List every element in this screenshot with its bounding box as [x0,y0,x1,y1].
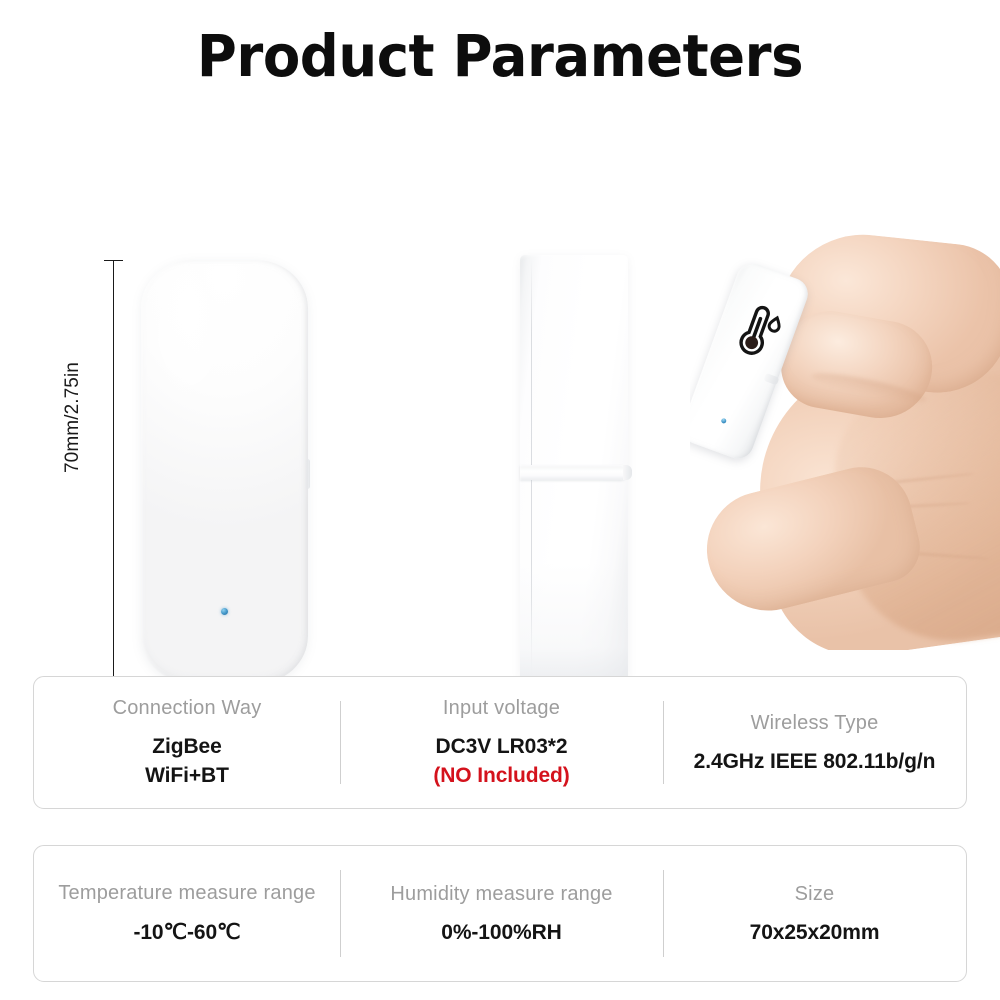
spec-value: 70x25x20mm [750,921,880,945]
product-illustration-area: 70mm/2.75in 25mm/0.98in 20mm/0.78in [0,110,1000,655]
spec-card-measurement: Temperature measure range -10℃-60℃ Humid… [33,845,967,982]
side-bottom-shading [520,563,628,683]
page-title: Product Parameters [30,22,970,90]
spec-value: ZigBee [152,735,221,759]
side-seam-tip [623,465,632,480]
device-side-view [520,255,628,683]
spec-value: WiFi+BT [145,764,229,788]
front-edge-notch [305,459,310,489]
spec-value-note: (NO Included) [433,764,569,788]
spec-label: Input voltage [443,697,560,720]
spec-label: Temperature measure range [58,882,315,905]
spec-value-group: 0%-100%RH [441,921,562,945]
product-parameters-page: Product Parameters 70mm/2.75in 25mm/0.98… [0,0,1000,1000]
spec-value: 2.4GHz IEEE 802.11b/g/n [694,750,936,774]
spec-column-input-voltage: Input voltage DC3V LR03*2 (NO Included) [340,677,663,808]
spec-value-group: 2.4GHz IEEE 802.11b/g/n [694,750,936,774]
spec-label: Connection Way [113,697,262,720]
spec-value-group: DC3V LR03*2 (NO Included) [433,735,569,788]
spec-label: Humidity measure range [390,883,612,906]
spec-column-connection-way: Connection Way ZigBee WiFi+BT [34,677,340,808]
spec-column-wireless-type: Wireless Type 2.4GHz IEEE 802.11b/g/n [663,677,966,808]
spec-label: Wireless Type [751,712,879,735]
spec-value: -10℃-60℃ [133,920,240,945]
spec-value: 0%-100%RH [441,921,562,945]
spec-value-group: ZigBee WiFi+BT [145,735,229,788]
spec-value-group: -10℃-60℃ [133,920,240,945]
front-highlight [158,268,235,412]
spec-column-temperature-range: Temperature measure range -10℃-60℃ [34,846,340,981]
spec-value: DC3V LR03*2 [436,735,568,759]
spec-label: Size [795,883,835,906]
spec-card-connectivity: Connection Way ZigBee WiFi+BT Input volt… [33,676,967,809]
side-seam [520,465,628,480]
device-front-view [141,260,308,684]
hand-holding-device-photo [690,230,1000,650]
height-dimension-line [113,260,114,686]
spec-value-group: 70x25x20mm [750,921,880,945]
spec-column-humidity-range: Humidity measure range 0%-100%RH [340,846,663,981]
spec-column-size: Size 70x25x20mm [663,846,966,981]
led-indicator-dot [221,608,228,615]
height-dimension-label: 70mm/2.75in [62,362,84,473]
